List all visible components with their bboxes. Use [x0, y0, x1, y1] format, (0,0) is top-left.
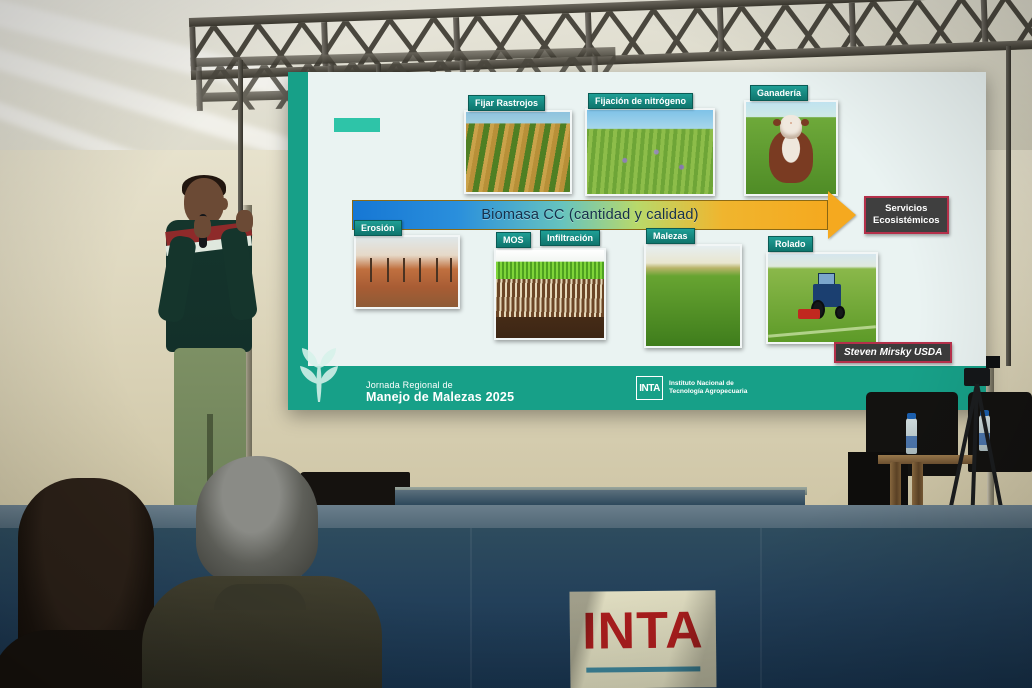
chip-fijar-rastrojos: Fijar Rastrojos	[468, 95, 545, 111]
slide-credit: Steven Mirsky USDA	[834, 342, 952, 363]
camera	[986, 356, 1000, 368]
photo-mos-infiltracion	[494, 248, 606, 340]
photo-rolado	[766, 252, 878, 344]
truss-brace	[1025, 0, 1032, 40]
fence-post	[370, 258, 372, 282]
audience-member-grey-hair	[196, 456, 318, 584]
inta-banner-shading	[569, 590, 716, 688]
chip-fijacion-nitrogeno: Fijación de nitrógeno	[588, 93, 693, 109]
inta-org-name: Instituto Nacional de Tecnología Agropec…	[669, 380, 747, 396]
cow-muzzle	[790, 122, 792, 124]
biomass-arrow-label: Biomasa CC (cantidad y calidad)	[481, 207, 698, 223]
mowed-stripe	[768, 326, 876, 338]
fence-post	[419, 258, 421, 282]
presenter-hand-right	[236, 210, 253, 232]
chip-mos: MOS	[496, 232, 531, 248]
photo-erosion	[354, 235, 460, 309]
fence-post	[436, 258, 438, 282]
drape-fold	[470, 528, 472, 688]
inta-org-line-1: Instituto Nacional de	[669, 380, 747, 388]
fence-post	[450, 258, 452, 282]
chip-ganaderia: Ganadería	[750, 85, 808, 101]
outcome-line-1: Servicios	[873, 203, 940, 215]
biomass-arrow-body: Biomasa CC (cantidad y calidad)	[352, 200, 828, 230]
fence-post	[403, 258, 405, 282]
footer-line-2: Manejo de Malezas 2025	[366, 390, 514, 405]
water-bottle	[906, 418, 917, 454]
photo-malezas	[644, 244, 742, 348]
chip-erosion: Erosión	[354, 220, 402, 236]
photo-fijar-rastrojos	[464, 110, 572, 194]
inta-org-line-2: Tecnología Agropecuaria	[669, 388, 747, 396]
projection-screen: Fijar Rastrojos Fijación de nitrógeno Ga…	[288, 72, 986, 410]
tractor-wheel	[835, 306, 845, 319]
presenter-ear	[220, 198, 228, 210]
slide-canvas: Fijar Rastrojos Fijación de nitrógeno Ga…	[288, 72, 986, 410]
photo-scene: Fijar Rastrojos Fijación de nitrógeno Ga…	[0, 0, 1032, 688]
inta-logo: INTA Instituto Nacional de Tecnología Ag…	[636, 376, 747, 400]
bottle-label	[906, 436, 917, 448]
cow-head	[780, 115, 802, 139]
photo-fijacion-nitrogeno	[585, 108, 715, 196]
slide-accent-chip	[334, 118, 380, 132]
cow-ear	[801, 119, 809, 126]
biomass-arrow-head	[828, 191, 856, 239]
outcome-line-2: Ecosistémicos	[873, 215, 940, 227]
photo-ganaderia	[744, 100, 838, 196]
chip-infiltracion: Infiltración	[540, 230, 600, 246]
outcome-box: Servicios Ecosistémicos	[864, 196, 949, 234]
bottle-cap	[907, 413, 916, 419]
chip-rolado: Rolado	[768, 236, 813, 252]
audience-member-collar	[214, 584, 306, 610]
inta-stage-banner: INTA	[569, 590, 716, 688]
inta-logo-box: INTA	[636, 376, 663, 400]
drape-fold	[760, 528, 762, 688]
footer-line-1: Jornada Regional de	[366, 380, 514, 391]
inta-logo-text: INTA	[639, 383, 660, 394]
roller-crimper	[798, 309, 820, 319]
truss-drop-bar	[1006, 46, 1011, 366]
presenter-hand-left	[194, 216, 211, 238]
cow-ear	[773, 119, 781, 126]
biomass-arrow: Biomasa CC (cantidad y calidad)	[352, 200, 856, 230]
fence-post	[387, 258, 389, 282]
chip-malezas: Malezas	[646, 228, 695, 244]
slide-footer-text: Jornada Regional de Manejo de Malezas 20…	[366, 380, 514, 405]
